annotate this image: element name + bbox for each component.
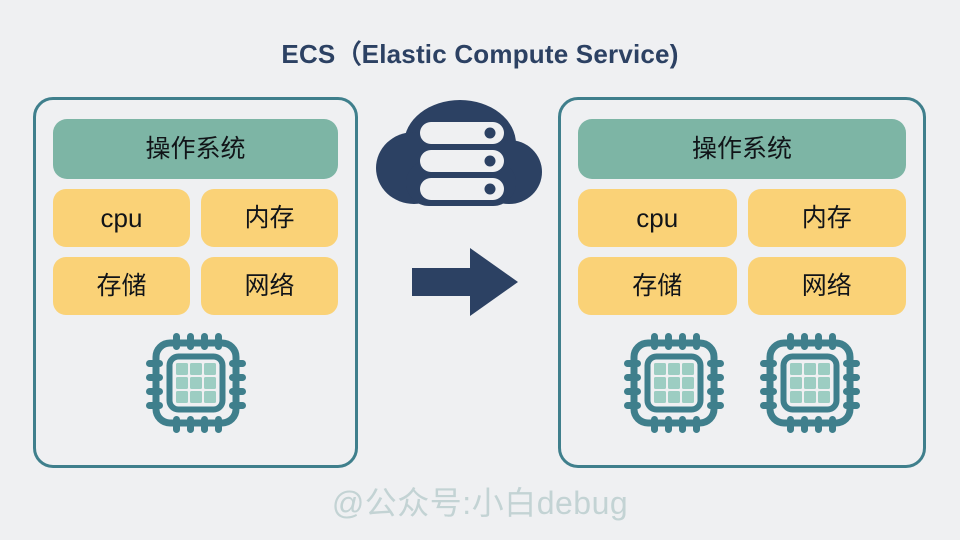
physical-server-card: 操作系统 cpu 内存 存储 网络 (33, 97, 358, 468)
arrow-right-icon (412, 248, 518, 316)
os-bar-left: 操作系统 (53, 119, 338, 179)
resource-box-memory: 内存 (201, 189, 338, 247)
chip-row-right (578, 333, 906, 433)
resource-box-cpu: cpu (578, 189, 737, 247)
os-label: 操作系统 (692, 137, 792, 162)
diagram-canvas: ECS（Elastic Compute Service) 操作系统 cpu 内存… (0, 0, 960, 540)
watermark: @公众号:小白debug (0, 478, 960, 524)
resource-label: cpu (636, 205, 678, 231)
cpu-chip-icon (760, 333, 860, 433)
cpu-chip-icon (624, 333, 724, 433)
resource-box-memory: 内存 (748, 189, 907, 247)
resource-box-cpu: cpu (53, 189, 190, 247)
chip-row-left (53, 333, 338, 433)
resource-box-storage: 存储 (578, 257, 737, 315)
cloud-server-icon (376, 96, 542, 208)
resource-label: 内存 (244, 206, 294, 231)
cpu-chip-icon (146, 333, 246, 433)
resource-box-storage: 存储 (53, 257, 190, 315)
resource-label: 内存 (802, 206, 852, 231)
page-title: ECS（Elastic Compute Service) (0, 34, 960, 71)
resource-grid-left: cpu 内存 存储 网络 (53, 189, 338, 315)
resource-box-network: 网络 (748, 257, 907, 315)
os-bar-right: 操作系统 (578, 119, 906, 179)
resource-label: 存储 (96, 274, 146, 299)
resource-label: cpu (101, 205, 143, 231)
resource-label: 网络 (244, 274, 294, 299)
os-label: 操作系统 (145, 137, 245, 162)
resource-box-network: 网络 (201, 257, 338, 315)
ecs-instance-card: 操作系统 cpu 内存 存储 网络 (558, 97, 926, 468)
resource-grid-right: cpu 内存 存储 网络 (578, 189, 906, 315)
resource-label: 网络 (802, 274, 852, 299)
resource-label: 存储 (632, 274, 682, 299)
